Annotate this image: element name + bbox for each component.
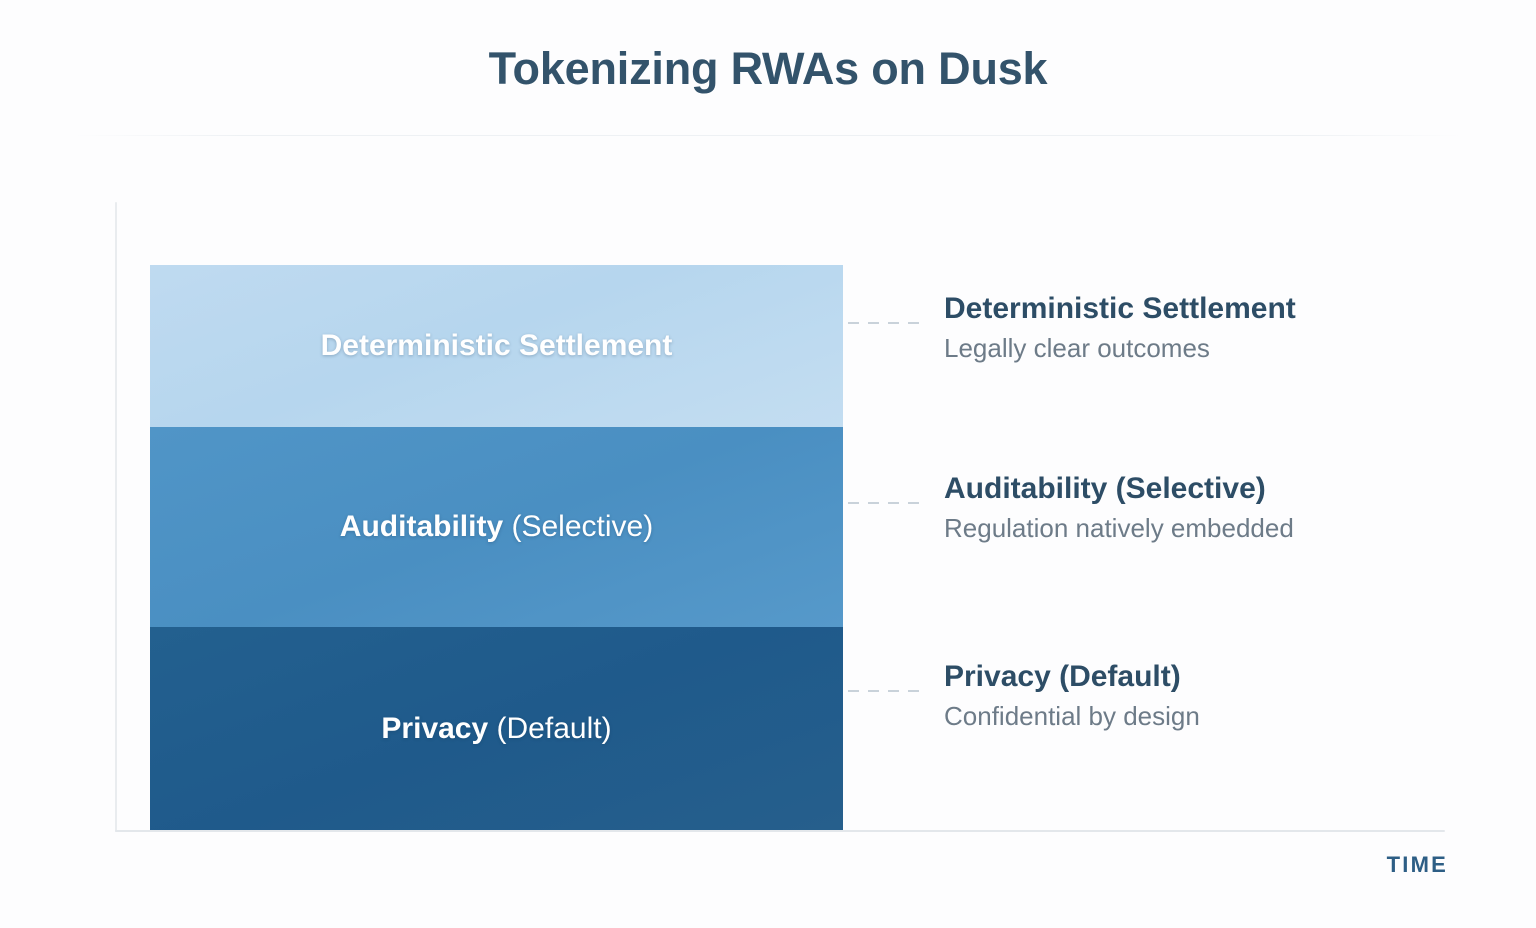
stack-layer-label: Deterministic Settlement	[321, 329, 673, 363]
stack-layer-label-light: (Default)	[488, 712, 611, 745]
x-axis-line	[115, 830, 1445, 832]
annotation-deterministic-settlement: Deterministic Settlement Legally clear o…	[848, 292, 1296, 364]
annotation-subtitle: Confidential by design	[944, 702, 1200, 732]
annotation-subtitle: Regulation natively embedded	[944, 514, 1294, 544]
x-axis-label: TIME	[1387, 852, 1448, 878]
annotation-privacy: Privacy (Default) Confidential by design	[848, 660, 1200, 732]
annotation-auditability: Auditability (Selective) Regulation nati…	[848, 472, 1294, 544]
annotation-title: Auditability (Selective)	[944, 472, 1294, 505]
dashed-leader-line-icon	[848, 690, 926, 692]
annotation-text: Deterministic Settlement Legally clear o…	[944, 292, 1296, 364]
stack-layer-label-light: (Selective)	[503, 510, 653, 543]
stack-layer-auditability[interactable]: Auditability (Selective)	[150, 427, 843, 627]
annotation-text: Auditability (Selective) Regulation nati…	[944, 472, 1294, 544]
stack-layer-deterministic-settlement[interactable]: Deterministic Settlement	[150, 265, 843, 427]
dashed-leader-line-icon	[848, 502, 926, 504]
annotation-subtitle: Legally clear outcomes	[944, 334, 1296, 364]
stack-layer-label-strong: Auditability	[340, 510, 503, 543]
stacked-bar-chart: Deterministic Settlement Auditability (S…	[0, 0, 1536, 928]
annotation-text: Privacy (Default) Confidential by design	[944, 660, 1200, 732]
stack-layer-label-strong: Deterministic Settlement	[321, 329, 673, 362]
stack-column: Deterministic Settlement Auditability (S…	[150, 265, 843, 830]
stack-layer-label: Privacy (Default)	[381, 712, 611, 746]
y-axis-line	[115, 202, 117, 832]
dashed-leader-line-icon	[848, 322, 926, 324]
annotation-title: Privacy (Default)	[944, 660, 1200, 693]
stack-layer-label: Auditability (Selective)	[340, 510, 653, 544]
annotation-title: Deterministic Settlement	[944, 292, 1296, 325]
stack-layer-label-strong: Privacy	[381, 712, 488, 745]
stack-layer-privacy[interactable]: Privacy (Default)	[150, 627, 843, 830]
